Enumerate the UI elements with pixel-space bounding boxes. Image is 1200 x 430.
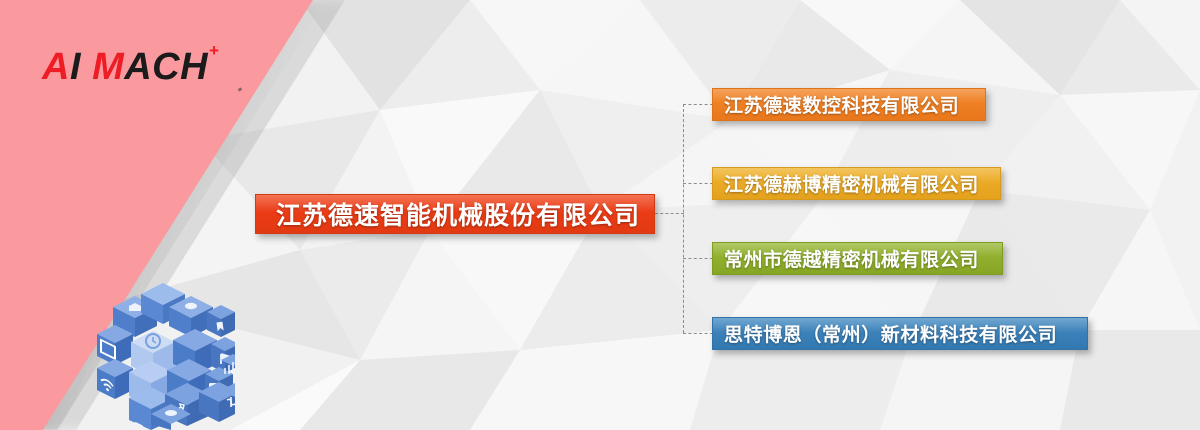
logo-plus-superscript: + <box>209 41 219 60</box>
org-node-child-1-label: 江苏德速数控科技有限公司 <box>724 91 959 118</box>
connector-branch-3 <box>683 258 713 259</box>
connector-branch-2 <box>683 183 713 184</box>
org-node-root[interactable]: 江苏德速智能机械股份有限公司 <box>255 194 655 234</box>
brand-logo: AI MACH+ <box>42 48 219 86</box>
icon-cube-3d <box>95 282 235 430</box>
logo-space <box>81 46 92 88</box>
logo-letters-ach: ACH <box>124 46 208 88</box>
org-node-root-label: 江苏德速智能机械股份有限公司 <box>276 196 640 232</box>
org-node-child-3-label: 常州市德越精密机械有限公司 <box>724 245 979 272</box>
org-node-child-4[interactable]: 思特博恩（常州）新材料科技有限公司 <box>712 317 1088 350</box>
org-node-child-4-label: 思特博恩（常州）新材料科技有限公司 <box>724 320 1057 347</box>
connector-spine <box>683 104 684 333</box>
org-node-child-2-label: 江苏德赫博精密机械有限公司 <box>724 170 979 197</box>
logo-letter-a: A <box>42 46 70 88</box>
connector-branch-1 <box>683 104 713 105</box>
connector-branch-4 <box>683 333 713 334</box>
connector-root <box>655 213 684 214</box>
banner-stage: AI MACH+ <box>0 0 1200 430</box>
org-node-child-2[interactable]: 江苏德赫博精密机械有限公司 <box>712 167 1001 200</box>
logo-letter-i: I <box>70 46 81 88</box>
org-node-child-1[interactable]: 江苏德速数控科技有限公司 <box>712 88 986 121</box>
logo-letter-m: M <box>92 46 124 88</box>
org-node-child-3[interactable]: 常州市德越精密机械有限公司 <box>712 242 1003 275</box>
